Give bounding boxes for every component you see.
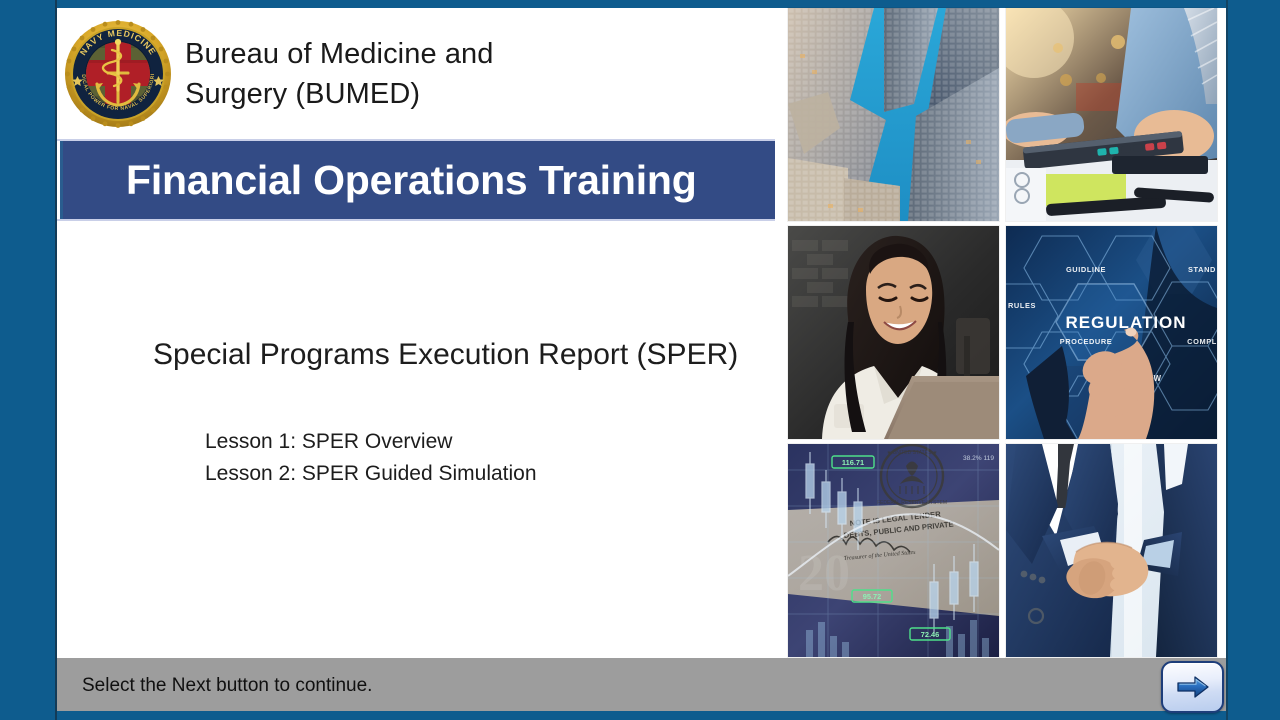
navy-medicine-seal-icon: NAVY MEDICINE MEDICAL POWER FOR NAVAL SU… (64, 20, 172, 128)
lesson-list: Lesson 1: SPER Overview Lesson 2: SPER G… (205, 426, 537, 490)
course-subject: Special Programs Execution Report (SPER) (153, 338, 738, 372)
svg-text:20: 20 (798, 545, 850, 602)
slide-stage: NAVY MEDICINE MEDICAL POWER FOR NAVAL SU… (0, 0, 1280, 720)
regulation-center-label: REGULATION (1065, 313, 1186, 332)
currency-tag-bottom: 72.46 (921, 630, 940, 639)
left-column: NAVY MEDICINE MEDICAL POWER FOR NAVAL SU… (57, 8, 775, 711)
next-button[interactable] (1161, 661, 1224, 713)
regulation-guidline-label: GUIDLINE (1066, 265, 1106, 274)
currency-tag-top: 116.71 (842, 458, 864, 467)
right-seam-line (1226, 0, 1228, 720)
organization-name: Bureau of Medicine and Surgery (BUMED) (185, 34, 494, 114)
svg-text:★ UNITED STATES ★: ★ UNITED STATES ★ (887, 450, 938, 456)
photo-calculator (1006, 8, 1217, 221)
regulation-compliance-label: COMPL (1187, 337, 1217, 346)
list-item: Lesson 1: SPER Overview (205, 426, 537, 458)
regulation-standard-label: STAND (1188, 265, 1216, 274)
footer-instruction: Select the Next button to continue. (82, 675, 372, 697)
photo-currency-chart: ★ UNITED STATES ★ FEDERAL RESERVE SYSTEM… (788, 444, 999, 657)
regulation-procedure-label: PROCEDURE (1060, 337, 1113, 346)
currency-corner-stat: 38.2% 119 (963, 455, 994, 462)
regulation-rules-label: RULES (1008, 301, 1036, 310)
title-band-accent (60, 141, 63, 219)
photo-handshake (1006, 444, 1217, 657)
footer-bar: Select the Next button to continue. (57, 658, 1226, 711)
title-rule-bottom (57, 219, 775, 221)
training-title: Financial Operations Training (126, 157, 697, 204)
photo-grid: REGULATION GUIDLINE STAND RULES PROCEDUR… (788, 8, 1226, 658)
photo-woman-laptop (788, 226, 999, 439)
list-item: Lesson 2: SPER Guided Simulation (205, 458, 537, 490)
training-title-band: Financial Operations Training (60, 141, 775, 219)
photo-regulation: REGULATION GUIDLINE STAND RULES PROCEDUR… (1006, 226, 1217, 439)
currency-tag-mid: 95.72 (863, 592, 882, 601)
photo-skyscrapers (788, 8, 999, 221)
brand-header: NAVY MEDICINE MEDICAL POWER FOR NAVAL SU… (57, 8, 775, 141)
slide-content-area: NAVY MEDICINE MEDICAL POWER FOR NAVAL SU… (57, 8, 1226, 711)
svg-text:FEDERAL RESERVE SYSTEM: FEDERAL RESERVE SYSTEM (877, 500, 947, 506)
arrow-right-icon (1176, 675, 1210, 699)
